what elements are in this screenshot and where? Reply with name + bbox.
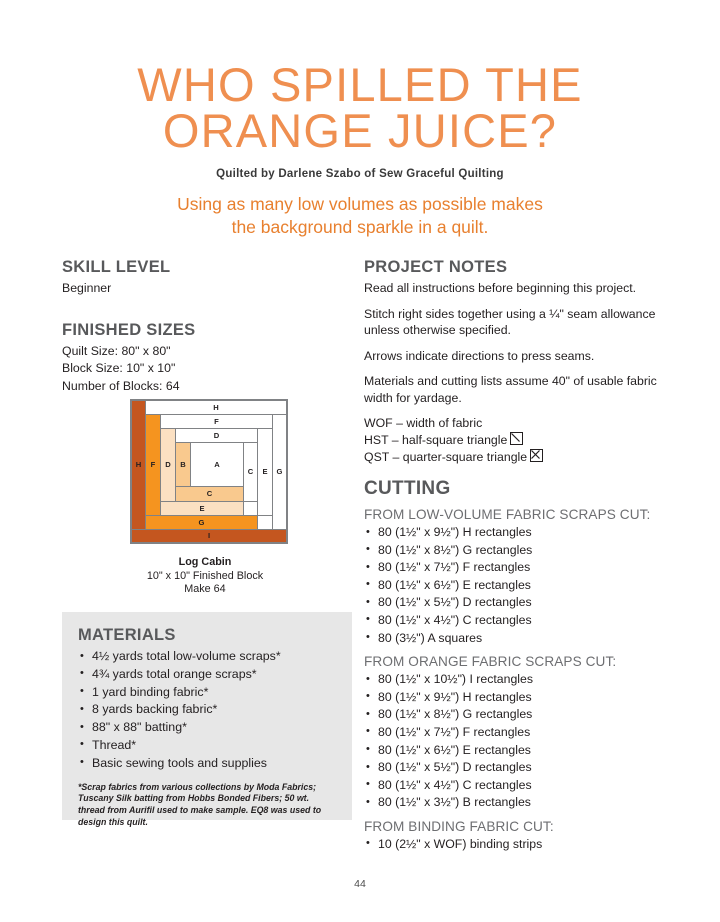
list-item: 4¾ yards total orange scraps* — [78, 666, 336, 684]
log-cabin-diagram: H H I G F F G E D D E C B C A — [130, 399, 288, 544]
cutting-heading: CUTTING — [364, 478, 664, 500]
piece-f-left-orange: F — [145, 414, 161, 516]
list-item: Basic sewing tools and supplies — [78, 755, 336, 773]
list-item: 80 (3½") A squares — [364, 630, 664, 648]
piece-h-left-dark: H — [131, 400, 146, 530]
piece-c-right-white: C — [243, 442, 258, 502]
list-item: 80 (1½" x 5½") D rectangles — [364, 759, 664, 777]
project-note-paragraph: Arrows indicate directions to press seam… — [364, 348, 664, 365]
cutting-group-heading-binding: FROM BINDING FABRIC CUT: — [364, 819, 664, 834]
list-item: 80 (1½" x 8½") G rectangles — [364, 706, 664, 724]
materials-box: MATERIALS 4½ yards total low-volume scra… — [62, 612, 352, 820]
cutting-group-heading-orange: FROM ORANGE FABRIC SCRAPS CUT: — [364, 654, 664, 669]
list-item: 80 (1½" x 7½") F rectangles — [364, 724, 664, 742]
log-cabin-block: H H I G F F G E D D E C B C A — [130, 399, 288, 544]
spacer — [364, 466, 664, 478]
list-item: 8 yards backing fabric* — [78, 701, 336, 719]
abbreviation-wof: WOF – width of fabric — [364, 415, 664, 432]
piece-b-left-light: B — [175, 442, 191, 487]
materials-list: 4½ yards total low-volume scraps* 4¾ yar… — [78, 648, 336, 773]
list-item: 80 (1½" x 5½") D rectangles — [364, 594, 664, 612]
block-size-line: Block Size: 10" x 10" — [62, 360, 352, 378]
project-notes-heading: PROJECT NOTES — [364, 258, 664, 277]
list-item: 80 (1½" x 3½") B rectangles — [364, 794, 664, 812]
project-note-paragraph: Stitch right sides together using a ¼" s… — [364, 306, 664, 339]
list-item: 10 (2½" x WOF) binding strips — [364, 836, 664, 854]
pattern-page: WHO SPILLED THE ORANGE JUICE? Quilted by… — [0, 0, 720, 922]
skill-level-value: Beginner — [62, 280, 352, 297]
list-item: 80 (1½" x 9½") H rectangles — [364, 689, 664, 707]
abbreviation-qst: QST – quarter-square triangle — [364, 449, 664, 466]
piece-g-right-white: G — [272, 414, 287, 530]
finished-sizes-heading: FINISHED SIZES — [62, 321, 352, 340]
abbreviation-hst: HST – half-square triangle — [364, 432, 664, 449]
tagline: Using as many low volumes as possible ma… — [0, 193, 720, 239]
project-note-paragraph: Read all instructions before beginning t… — [364, 280, 664, 297]
title-block: WHO SPILLED THE ORANGE JUICE? Quilted by… — [0, 62, 720, 239]
piece-a-center-white: A — [190, 442, 244, 487]
page-title: WHO SPILLED THE ORANGE JUICE? — [0, 62, 720, 154]
list-item: 80 (1½" x 4½") C rectangles — [364, 777, 664, 795]
diagram-caption: Log Cabin 10" x 10" Finished Block Make … — [60, 556, 350, 597]
caption-block-name: Log Cabin — [60, 556, 350, 570]
cutting-list-binding: 10 (2½" x WOF) binding strips — [364, 836, 664, 854]
list-item: 80 (1½" x 9½") H rectangles — [364, 524, 664, 542]
materials-heading: MATERIALS — [78, 626, 336, 645]
abbreviation-hst-label: HST – half-square triangle — [364, 433, 507, 447]
left-column: SKILL LEVEL Beginner FINISHED SIZES Quil… — [62, 258, 352, 395]
half-square-triangle-icon — [510, 432, 523, 445]
quilt-size-line: Quilt Size: 80" x 80" — [62, 343, 352, 361]
list-item: 80 (1½" x 7½") F rectangles — [364, 559, 664, 577]
cutting-list-low-volume: 80 (1½" x 9½") H rectangles 80 (1½" x 8½… — [364, 524, 664, 647]
list-item: 4½ yards total low-volume scraps* — [78, 648, 336, 666]
piece-e-bottom-pale: E — [160, 501, 244, 516]
cutting-list-orange: 80 (1½" x 10½") I rectangles 80 (1½" x 9… — [364, 671, 664, 812]
page-title-line2: ORANGE JUICE? — [0, 108, 720, 154]
number-of-blocks-line: Number of Blocks: 64 — [62, 378, 352, 396]
quilter-byline: Quilted by Darlene Szabo of Sew Graceful… — [0, 168, 720, 180]
piece-f-top-white: F — [160, 414, 273, 429]
list-item: 80 (1½" x 8½") G rectangles — [364, 542, 664, 560]
list-item: 80 (1½" x 4½") C rectangles — [364, 612, 664, 630]
caption-block-size: 10" x 10" Finished Block — [60, 570, 350, 584]
list-item: 88" x 88" batting* — [78, 719, 336, 737]
list-item: 80 (1½" x 6½") E rectangles — [364, 577, 664, 595]
piece-g-bottom-orange: G — [145, 515, 258, 530]
list-item: 1 yard binding fabric* — [78, 684, 336, 702]
cutting-group-heading-low-volume: FROM LOW-VOLUME FABRIC SCRAPS CUT: — [364, 507, 664, 522]
list-item: 80 (1½" x 6½") E rectangles — [364, 742, 664, 760]
piece-e-right-white: E — [257, 428, 273, 516]
piece-d-top-white: D — [175, 428, 258, 443]
materials-footnote: *Scrap fabrics from various collections … — [78, 782, 336, 829]
piece-i-bottom-dark: I — [131, 529, 287, 543]
page-number: 44 — [0, 878, 720, 890]
piece-d-left-pale: D — [160, 428, 176, 502]
right-column: PROJECT NOTES Read all instructions befo… — [364, 258, 664, 854]
skill-level-heading: SKILL LEVEL — [62, 258, 352, 277]
list-item: Thread* — [78, 737, 336, 755]
quarter-square-triangle-icon — [530, 449, 543, 462]
piece-c-bottom-light: C — [175, 486, 244, 502]
piece-h-top-white: H — [145, 400, 287, 415]
caption-make-count: Make 64 — [60, 583, 350, 597]
tagline-line2: the background sparkle in a quilt. — [0, 216, 720, 239]
project-note-paragraph: Materials and cutting lists assume 40" o… — [364, 373, 664, 406]
abbreviation-qst-label: QST – quarter-square triangle — [364, 450, 527, 464]
tagline-line1: Using as many low volumes as possible ma… — [177, 194, 543, 214]
list-item: 80 (1½" x 10½") I rectangles — [364, 671, 664, 689]
spacer — [62, 297, 352, 321]
